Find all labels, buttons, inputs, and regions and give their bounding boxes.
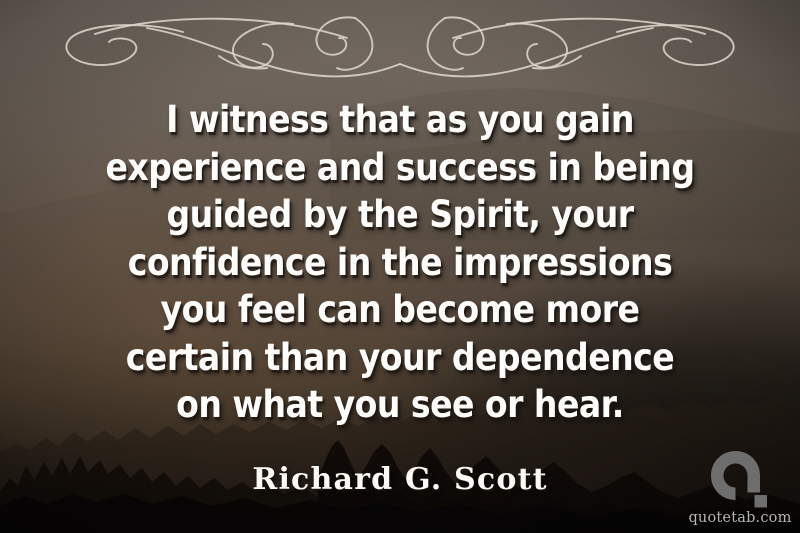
author-attribution: Richard G. Scott	[0, 462, 800, 497]
quote-line: I witness that as you gain	[58, 96, 742, 144]
quote-line: certain than your dependence	[58, 334, 742, 382]
quote-line: guided by the Spirit, your	[58, 191, 742, 239]
quote-line: confidence in the impressions	[58, 239, 742, 287]
quote-line: you feel can become more	[58, 286, 742, 334]
quotetab-q-logo-icon	[709, 449, 771, 509]
author-name: Richard G. Scott	[252, 462, 547, 497]
quote-line: experience and success in being	[58, 144, 742, 192]
quote-line: on what you see or hear.	[58, 381, 742, 429]
watermark: quotetab.com	[688, 449, 792, 527]
decorative-flourish-ornament	[55, 8, 745, 80]
quote-text-block: I witness that as you gain experience an…	[0, 96, 800, 429]
quote-image-card: I witness that as you gain experience an…	[0, 0, 800, 533]
watermark-site-label: quotetab.com	[688, 510, 792, 527]
